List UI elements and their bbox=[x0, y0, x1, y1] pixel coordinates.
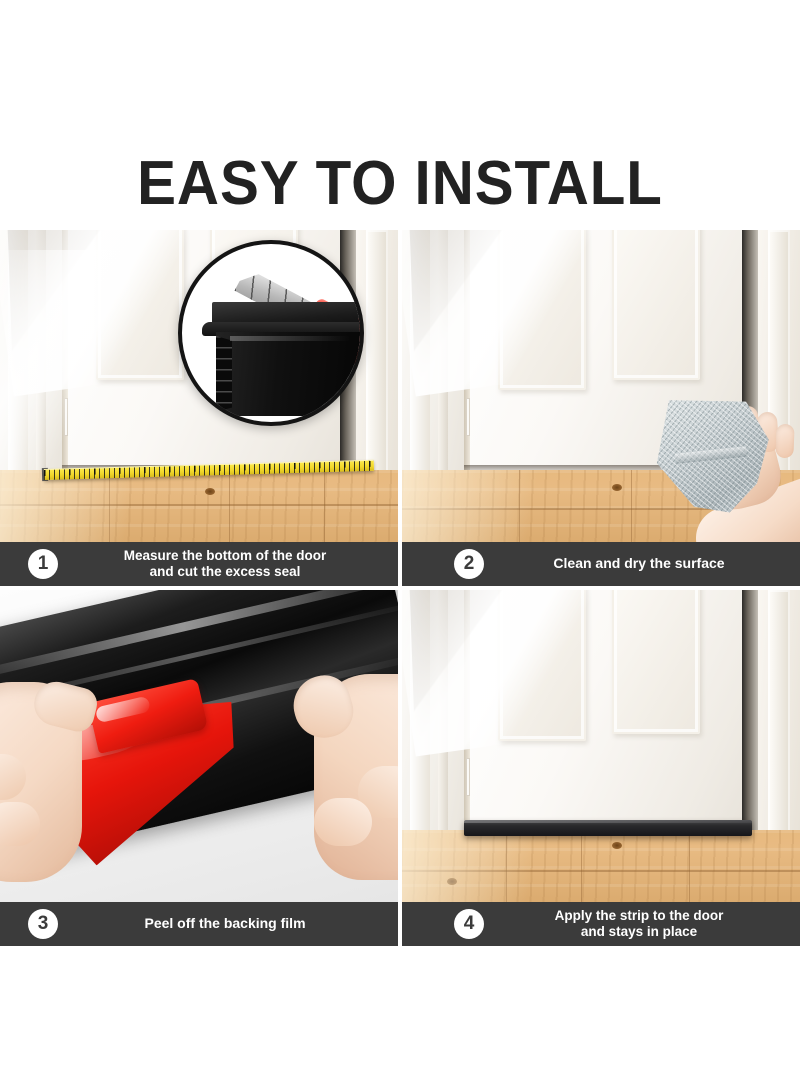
door-seal-strip-icon bbox=[464, 820, 752, 836]
door-scene bbox=[0, 230, 398, 542]
step-panel-3[interactable]: 3 Peel off the backing film bbox=[0, 590, 398, 946]
step-number-badge: 1 bbox=[28, 549, 58, 579]
studio-background bbox=[0, 590, 398, 902]
door-scene bbox=[402, 590, 800, 902]
seal-highlight bbox=[230, 336, 350, 341]
step-caption-text: Clean and dry the surface bbox=[484, 555, 800, 572]
finger bbox=[775, 424, 794, 459]
zoom-inset-circle bbox=[178, 240, 364, 426]
door-inset-panel bbox=[498, 230, 586, 390]
seal-highlight bbox=[464, 820, 752, 823]
wood-floor bbox=[402, 830, 800, 902]
step-panel-1[interactable]: 1 Measure the bottom of the door and cut… bbox=[0, 230, 398, 586]
door-scene bbox=[402, 230, 800, 542]
floor-plank bbox=[582, 830, 690, 902]
step-number-badge: 2 bbox=[454, 549, 484, 579]
seal-body bbox=[216, 332, 364, 416]
step-4-photo bbox=[402, 590, 800, 902]
wood-knot bbox=[205, 488, 215, 495]
steps-grid: 1 Measure the bottom of the door and cut… bbox=[0, 230, 800, 946]
door-seal-strip-icon bbox=[202, 302, 364, 416]
step-3-photo bbox=[0, 590, 398, 902]
hand-icon bbox=[260, 648, 398, 898]
step-4-caption-bar: 4 Apply the strip to the door and stays … bbox=[402, 902, 800, 946]
floor-sunlight bbox=[402, 470, 572, 542]
step-caption-text: Apply the strip to the door and stays in… bbox=[484, 908, 800, 941]
step-number-badge: 4 bbox=[454, 909, 484, 939]
step-1-photo bbox=[0, 230, 398, 542]
hand-icon bbox=[0, 642, 128, 902]
floor-plank bbox=[230, 470, 325, 542]
floor-sunlight bbox=[0, 470, 170, 542]
page-title: EASY TO INSTALL bbox=[24, 150, 776, 218]
step-panel-2[interactable]: 2 Clean and dry the surface bbox=[402, 230, 800, 586]
product-infographic: EASY TO INSTALL bbox=[0, 0, 800, 1091]
door-inset-panel bbox=[612, 230, 700, 380]
step-panel-4[interactable]: 4 Apply the strip to the door and stays … bbox=[402, 590, 800, 946]
finger bbox=[314, 798, 372, 846]
door-inset-panel bbox=[96, 230, 184, 380]
step-caption-text: Peel off the backing film bbox=[58, 915, 398, 932]
floor-sunlight bbox=[402, 830, 572, 902]
step-1-caption-bar: 1 Measure the bottom of the door and cut… bbox=[0, 542, 398, 586]
step-caption-text: Measure the bottom of the door and cut t… bbox=[58, 548, 398, 581]
wood-knot bbox=[612, 484, 622, 491]
seal-honeycomb-cells bbox=[216, 336, 232, 412]
step-2-photo bbox=[402, 230, 800, 542]
wood-knot bbox=[612, 842, 622, 849]
step-2-caption-bar: 2 Clean and dry the surface bbox=[402, 542, 800, 586]
step-3-caption-bar: 3 Peel off the backing film bbox=[0, 902, 398, 946]
door-inset-panel bbox=[498, 590, 586, 741]
step-number-badge: 3 bbox=[28, 909, 58, 939]
door-inset-panel bbox=[612, 590, 700, 734]
wood-floor bbox=[0, 470, 398, 542]
